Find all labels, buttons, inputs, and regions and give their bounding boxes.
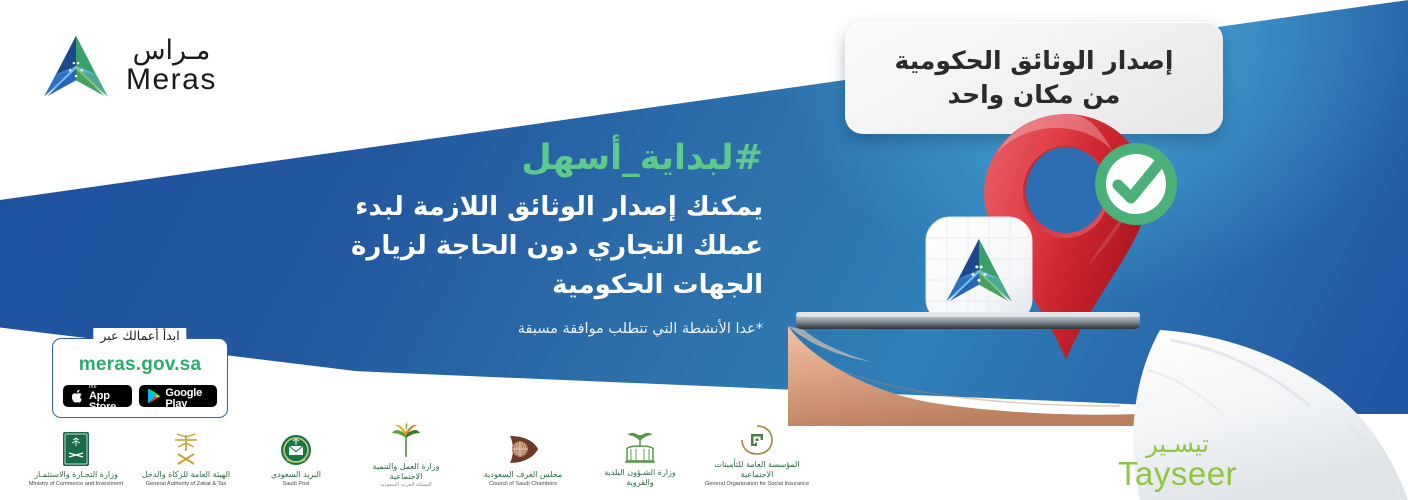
meras-triangle-logo-icon bbox=[40, 30, 112, 102]
headline-footnote: *عدا الأنشطة التي تتطلب موافقة مسبقة bbox=[293, 319, 763, 339]
meras-wordmark: مـراس Meras bbox=[126, 37, 217, 95]
google-play-badge-name: Google Play bbox=[165, 388, 209, 410]
partner-name-arabic: مجلس الغرف السعودية bbox=[484, 470, 562, 480]
partner-name-english: Ministry of Commerce and Investment bbox=[29, 481, 123, 488]
ministry-labor-palm-icon bbox=[389, 421, 423, 459]
google-play-badge-text: GET IT ON Google Play bbox=[165, 382, 209, 410]
partner-ministry-labor: وزارة العمل والتنمية الاجتماعية المملكة … bbox=[358, 421, 454, 488]
meras-promo-banner: مـراس Meras إصدار الوثائق الحكومية من مك… bbox=[0, 0, 1408, 500]
partner-municipal-rural: وزارة الشـؤون البلدية والقروية bbox=[592, 427, 688, 488]
saudi-post-emblem-icon bbox=[280, 429, 312, 467]
partner-ministry-commerce: وزارة التجـارة والاستثمـار Ministry of C… bbox=[28, 429, 124, 488]
google-play-icon bbox=[147, 389, 160, 403]
partner-gosi: المؤسسة العامة للتأمينات الاجتماعية Gene… bbox=[702, 419, 812, 488]
campaign-hashtag: #لبداية_أسهل bbox=[293, 138, 763, 179]
download-section: ابدأ أعمالك عبر meras.gov.sa Download on… bbox=[52, 338, 228, 418]
partner-zakat-tax: الهيئة العامة للزكاة والدخل General Auth… bbox=[138, 429, 234, 488]
download-legend: ابدأ أعمالك عبر bbox=[93, 328, 186, 343]
zakat-tax-palm-icon bbox=[171, 429, 201, 467]
partner-name-arabic: الهيئة العامة للزكاة والدخل bbox=[142, 470, 230, 480]
download-box: ابدأ أعمالك عبر meras.gov.sa Download on… bbox=[52, 338, 228, 418]
green-check-circle-icon bbox=[1090, 138, 1182, 230]
store-badges: Download on the App Store GET IT ON Goog… bbox=[63, 385, 217, 407]
google-play-badge[interactable]: GET IT ON Google Play bbox=[139, 385, 217, 407]
partner-name-arabic: وزارة التجـارة والاستثمـار bbox=[34, 470, 118, 480]
partner-name-english: General Authority of Zakat & Tax bbox=[146, 481, 226, 488]
app-store-badge-name: App Store bbox=[89, 391, 124, 413]
app-store-badge[interactable]: Download on the App Store bbox=[63, 385, 132, 407]
partner-name-arabic: البريد السعودي bbox=[271, 470, 321, 480]
tayseer-name-english: Tayseer bbox=[1118, 457, 1237, 490]
council-chambers-icon bbox=[504, 429, 542, 467]
main-copy-block: #لبداية_أسهل يمكنك إصدار الوثائق اللازمة… bbox=[293, 138, 763, 340]
meras-logo[interactable]: مـراس Meras bbox=[40, 30, 217, 102]
partner-council-chambers: مجلس الغرف السعودية Council of Saudi Cha… bbox=[468, 429, 578, 488]
tayseer-logo: تيسـير Tayseer bbox=[1118, 432, 1237, 490]
partner-saudi-post: البريد السعودي Saudi Post bbox=[248, 429, 344, 488]
meras-name-english: Meras bbox=[126, 65, 217, 95]
partner-name-english: Council of Saudi Chambers bbox=[489, 481, 557, 488]
partner-logos: وزارة التجـارة والاستثمـار Ministry of C… bbox=[28, 419, 812, 488]
app-store-badge-text: Download on the App Store bbox=[89, 379, 124, 412]
partner-name-english: General Organization for Social Insuranc… bbox=[705, 481, 809, 488]
gosi-knot-icon bbox=[739, 419, 775, 457]
partner-name-arabic: وزارة الشـؤون البلدية والقروية bbox=[592, 468, 688, 488]
website-url[interactable]: meras.gov.sa bbox=[63, 354, 217, 376]
meras-name-arabic: مـراس bbox=[133, 37, 211, 64]
apple-logo-icon bbox=[71, 389, 84, 404]
tayseer-name-arabic: تيسـير bbox=[1118, 432, 1237, 456]
app-store-badge-top: Download on the bbox=[89, 379, 124, 389]
partner-name-sub: المملكة العربية السعودية bbox=[380, 482, 431, 488]
saudi-emblem-shield-icon bbox=[62, 429, 90, 467]
partner-name-english: Saudi Post bbox=[282, 481, 309, 488]
main-headline: يمكنك إصدار الوثائق اللازمة لبدء عملك ال… bbox=[293, 188, 763, 305]
partner-name-arabic: وزارة العمل والتنمية الاجتماعية bbox=[358, 462, 454, 482]
partner-name-arabic: المؤسسة العامة للتأمينات الاجتماعية bbox=[702, 460, 812, 480]
municipal-rural-affairs-icon bbox=[622, 427, 658, 465]
